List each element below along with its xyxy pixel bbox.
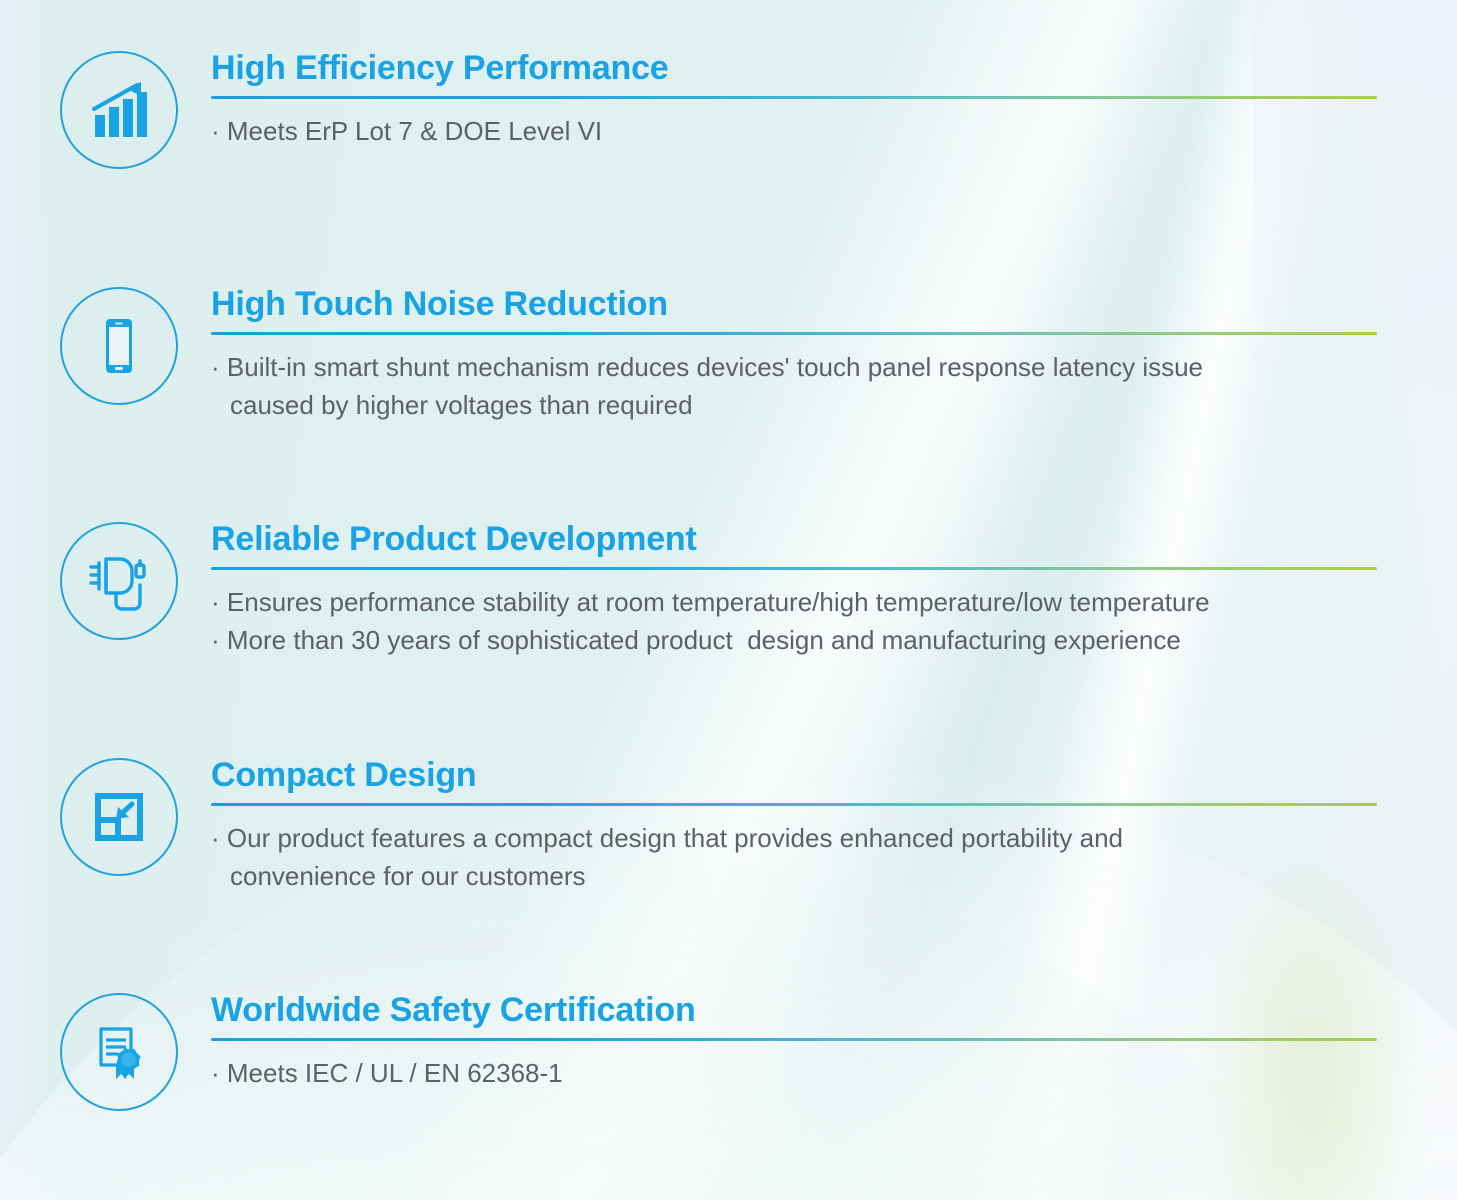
bullet-text: convenience for our customers [230, 861, 586, 891]
bullet-text: Meets ErP Lot 7 & DOE Level VI [220, 116, 602, 146]
feature-bullet-line: · Built-in smart shunt mechanism reduces… [211, 348, 1377, 386]
feature-description: · Meets IEC / UL / EN 62368-1 [211, 1054, 1377, 1092]
feature-highlights-panel: High Efficiency Performance · Meets ErP … [0, 0, 1457, 1200]
feature-bullet-line: · Meets ErP Lot 7 & DOE Level VI [211, 112, 1377, 150]
feature-bullet-line-continued: convenience for our customers [211, 857, 1377, 895]
certificate-seal-icon [60, 993, 178, 1111]
bullet-text: More than 30 years of sophisticated prod… [220, 625, 1181, 655]
bullet-text: Ensures performance stability at room te… [220, 587, 1210, 617]
bullet-marker: · [211, 625, 220, 655]
bullet-marker: · [211, 352, 220, 382]
feature-divider [211, 1038, 1377, 1041]
feature-description: · Meets ErP Lot 7 & DOE Level VI [211, 112, 1377, 150]
feature-divider [211, 567, 1377, 570]
bullet-marker: · [211, 823, 220, 853]
feature-icon-wrap [57, 990, 181, 1114]
background-swoosh-white [0, 673, 1457, 1200]
feature-body: High Touch Noise Reduction · Built-in sm… [211, 284, 1377, 424]
bar-chart-growth-icon [60, 51, 178, 169]
feature-divider [211, 332, 1377, 335]
feature-icon-wrap [57, 48, 181, 172]
bullet-text: caused by higher voltages than required [230, 390, 693, 420]
feature-title: Worldwide Safety Certification [211, 990, 1377, 1030]
bullet-marker: · [211, 587, 220, 617]
compact-shrink-icon [60, 758, 178, 876]
feature-bullet-line: · Meets IEC / UL / EN 62368-1 [211, 1054, 1377, 1092]
feature-body: Reliable Product Development · Ensures p… [211, 519, 1377, 659]
bullet-text: Meets IEC / UL / EN 62368-1 [220, 1058, 563, 1088]
feature-icon-wrap [57, 519, 181, 643]
feature-title: High Touch Noise Reduction [211, 284, 1377, 324]
feature-bullet-line: · More than 30 years of sophisticated pr… [211, 621, 1377, 659]
feature-title: High Efficiency Performance [211, 48, 1377, 88]
feature-description: · Ensures performance stability at room … [211, 583, 1377, 659]
feature-body: Worldwide Safety Certification · Meets I… [211, 990, 1377, 1092]
background-left-column [0, 0, 61, 1200]
feature-title: Reliable Product Development [211, 519, 1377, 559]
bullet-marker: · [211, 1058, 220, 1088]
bullet-text: Built-in smart shunt mechanism reduces d… [220, 352, 1203, 382]
bullet-marker: · [211, 116, 220, 146]
feature-description: · Our product features a compact design … [211, 819, 1377, 895]
feature-body: Compact Design · Our product features a … [211, 755, 1377, 895]
feature-bullet-line-continued: caused by higher voltages than required [211, 386, 1377, 424]
feature-title: Compact Design [211, 755, 1377, 795]
feature-body: High Efficiency Performance · Meets ErP … [211, 48, 1377, 150]
bullet-text: Our product features a compact design th… [220, 823, 1123, 853]
power-adapter-icon [60, 522, 178, 640]
smartphone-icon [60, 287, 178, 405]
feature-icon-wrap [57, 755, 181, 879]
feature-divider [211, 96, 1377, 99]
feature-description: · Built-in smart shunt mechanism reduces… [211, 348, 1377, 424]
feature-icon-wrap [57, 284, 181, 408]
feature-bullet-line: · Our product features a compact design … [211, 819, 1377, 857]
feature-divider [211, 803, 1377, 806]
feature-bullet-line: · Ensures performance stability at room … [211, 583, 1377, 621]
